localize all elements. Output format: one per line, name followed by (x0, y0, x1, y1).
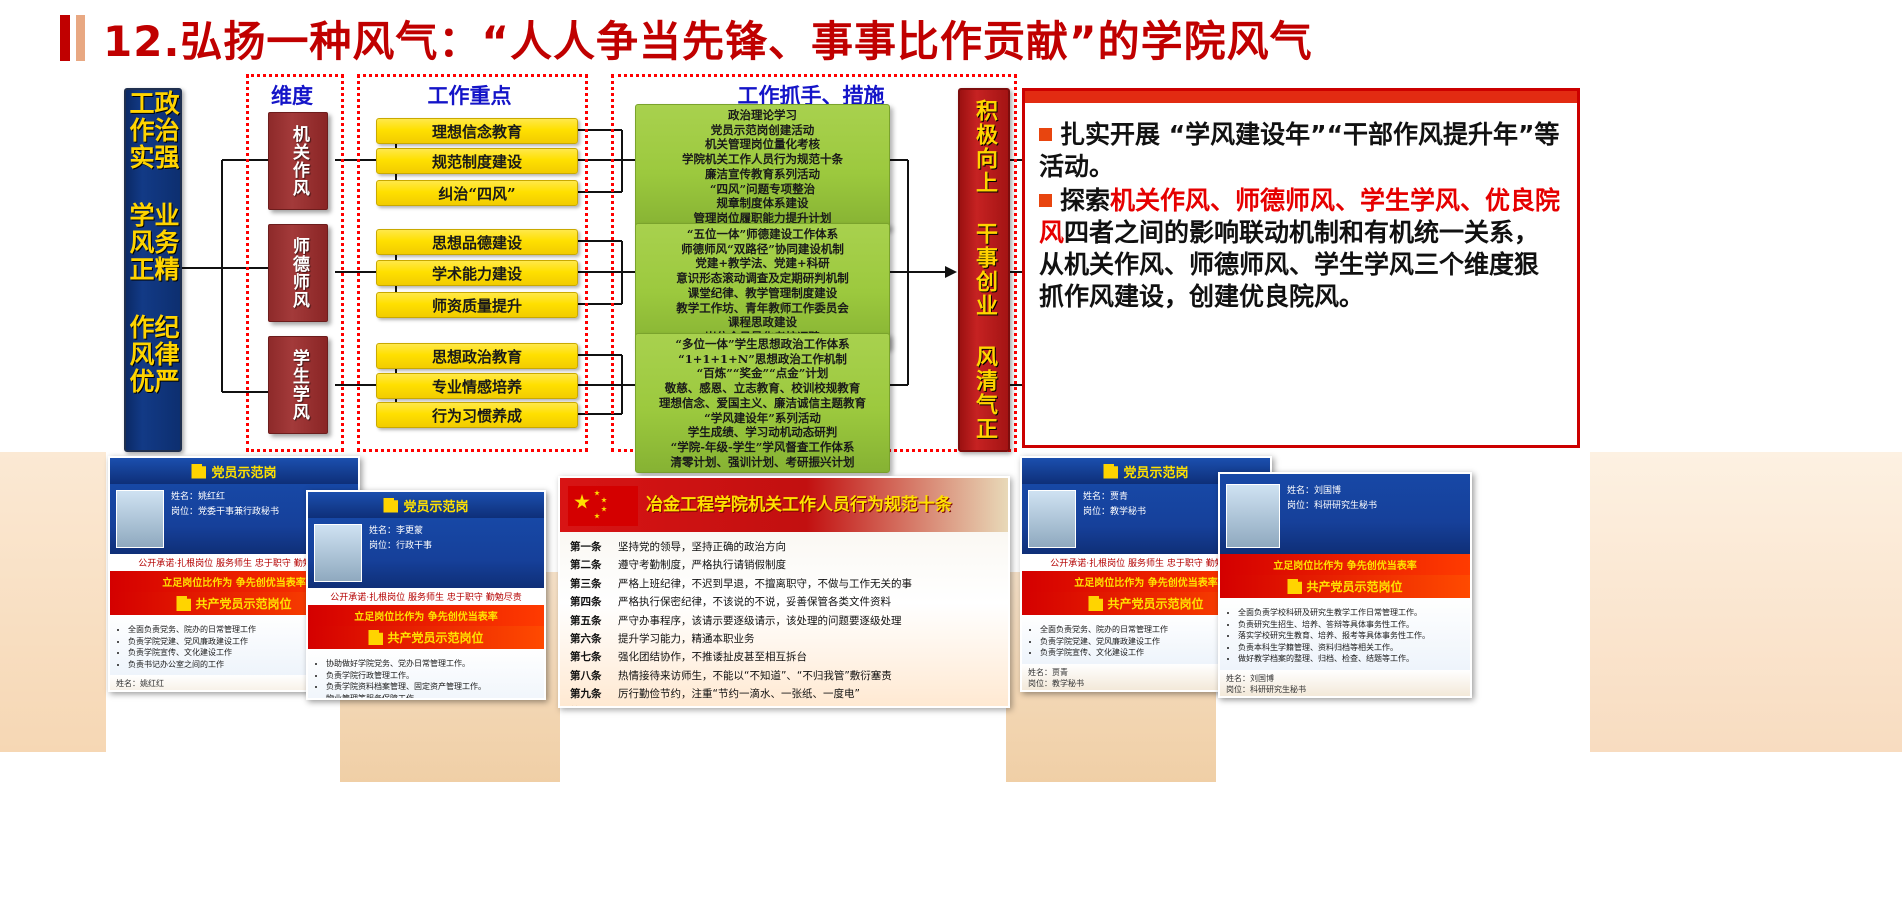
focus-box-3-1[interactable]: 思想政治教育 (376, 343, 578, 369)
measure-line: 机关管理岗位量化考核 (640, 137, 885, 152)
measure-line: 学院机关工作人员行为规范十条 (640, 152, 885, 167)
panel-top-accent (1025, 91, 1577, 103)
focus-box-2-3[interactable]: 师资质量提升 (376, 292, 578, 318)
row-no: 第一条 (570, 538, 618, 556)
avatar (1028, 490, 1076, 548)
measure-line: “学风建设年”系列活动 (640, 411, 885, 426)
card-lower-title: 共产党员示范岗位 (1107, 595, 1203, 612)
row-no: 第三条 (570, 575, 618, 593)
post-label: 岗位： (1083, 507, 1110, 517)
measure-line: “四风”问题专项整治 (640, 182, 885, 197)
banner-row: 第三条严格上班纪律，不迟到早退，不擅离职守，不做与工作无关的事 (570, 575, 998, 593)
row-no: 第八条 (570, 667, 618, 685)
dimension-box-2[interactable]: 师德师风 (268, 224, 328, 322)
post-label: 岗位： (369, 541, 396, 551)
right-pillar-text: 积极向上 干事创业 风清气正 (973, 99, 995, 441)
post-value: 党委干事兼行政秘书 (198, 507, 279, 517)
name-label: 姓名： (171, 492, 198, 502)
name-label: 姓名： (1226, 674, 1250, 683)
banner-row: 第七条强化团结协作，不推诿扯皮甚至相互拆台 (570, 648, 998, 666)
banner-row: 第一条坚持党的领导，坚持正确的政治方向 (570, 538, 998, 556)
measure-line: “1+1+1+N”思想政治工作机制 (640, 352, 885, 367)
row-no: 第十条 (570, 703, 618, 708)
focus-box-1-3[interactable]: 纠治“四风” (376, 180, 578, 206)
name-value: 贾青 (1110, 492, 1128, 502)
row-text: 遵守考勤制度，严格执行请销假制度 (618, 556, 786, 574)
row-no: 第二条 (570, 556, 618, 574)
dimension-label-3: 学生学风 (289, 349, 307, 421)
name-label: 姓名： (1028, 668, 1052, 677)
post-label: 岗位： (1287, 501, 1314, 511)
card-title: 党员示范岗 (1123, 462, 1188, 481)
focus-box-2-1[interactable]: 思想品德建设 (376, 229, 578, 255)
banner-row: 第五条严守办事程序，该请示要逐级请示，该处理的问题要逐级处理 (570, 612, 998, 630)
measure-line: 规章制度体系建设 (640, 196, 885, 211)
banner-row: 第四条严格执行保密纪律，不该说的不说，妥善保管各类文件资料 (570, 593, 998, 611)
name-label: 姓名： (369, 526, 396, 536)
measure-line: “五位一体”师德建设工作体系 (640, 227, 885, 242)
avatar (314, 524, 362, 582)
post-value: 教学秘书 (1052, 679, 1084, 688)
left-pillar-text: 政治强 业务精 纪律严 工作实 学风正 作风优 (128, 90, 178, 450)
name-value: 姚红红 (140, 679, 164, 688)
post-value: 党委干事兼行政秘书 (140, 690, 212, 692)
right-pillar-bar: 积极向上 干事创业 风清气正 (958, 88, 1010, 452)
name-label: 姓名： (116, 679, 140, 688)
duty-item: 负责研究生招生、培养、答辩等具体事务性工作。 (1238, 619, 1464, 631)
row-text: 热情接待来访师生，不能以“不知道”、“不归我管”敷衍塞责 (618, 667, 892, 685)
slogan-band: 立足岗位比作为 争先创优当表率 (1220, 554, 1470, 575)
duty-item: 全面负责学校科研及研究生教学工作日常管理工作。 (1238, 607, 1464, 619)
name-label: 姓名： (1287, 486, 1314, 496)
banner-row: 第二条遵守考勤制度，严格执行请销假制度 (570, 556, 998, 574)
avatar (1226, 484, 1280, 548)
photo-card-2[interactable]: 党员示范岗 姓名：李更蒙 岗位：行政干事 公开承诺·扎根岗位 服务师生 忠于职守… (306, 490, 546, 700)
post-label: 岗位： (1226, 685, 1250, 694)
title-accent-bar (60, 15, 70, 61)
photo-strip: 党员示范岗 姓名：姚红红 岗位：党委干事兼行政秘书 公开承诺·扎根岗位 服务师生… (0, 452, 1902, 903)
card-header: 党员示范岗 (110, 458, 358, 484)
focus-box-1-2[interactable]: 规范制度建设 (376, 148, 578, 174)
duty-item: 负责学院行政管理工作。 (326, 670, 538, 682)
row-text: 厉行勤俭节约，注重“节约一滴水、一张纸、一度电” (618, 685, 860, 703)
card-body: 姓名：李更蒙 岗位：行政干事 (308, 518, 544, 588)
card-title: 党员示范岗 (403, 496, 468, 515)
party-emblem-icon (1088, 596, 1103, 611)
name-value: 李更蒙 (396, 526, 423, 536)
pledge-line: 公开承诺·扎根岗位 服务师生 忠于职守 勤勉尽责 (308, 588, 544, 605)
measure-line: “百炼”“奖金”“点金”计划 (640, 366, 885, 381)
card-footer: 姓名：刘国博 岗位：科研研究生秘书 (1220, 670, 1470, 698)
card-lower-header: 共产党员示范岗位 (308, 626, 544, 649)
measure-line: 政治理论学习 (640, 108, 885, 123)
deco-left (0, 452, 106, 752)
post-label: 岗位： (1028, 679, 1052, 688)
row-no: 第五条 (570, 612, 618, 630)
avatar (116, 490, 164, 548)
title-accent-bar-2 (76, 15, 85, 61)
banner-list: 第一条坚持党的领导，坚持正确的政治方向 第二条遵守考勤制度，严格执行请销假制度 … (560, 532, 1008, 708)
card-lower-title: 共产党员示范岗位 (1306, 578, 1402, 595)
focus-box-3-3[interactable]: 行为习惯养成 (376, 402, 578, 428)
dimension-box-3[interactable]: 学生学风 (268, 336, 328, 434)
summary-highlight-1: 机关作风、师德师风、 (1110, 186, 1360, 215)
row-text: 坚持党的领导，坚持正确的政治方向 (618, 538, 786, 556)
post-value: 科研研究生秘书 (1314, 501, 1377, 511)
card-lower-title: 共产党员示范岗位 (195, 595, 291, 612)
duty-item: 负责本科生学籍管理、资料归档等相关工作。 (1238, 642, 1464, 654)
duty-item: 做好教学档案的整理、归档、检查、结题等工作。 (1238, 653, 1464, 665)
card-header: 党员示范岗 (308, 492, 544, 518)
banner-row: 第六条提升学习能力，精通本职业务 (570, 630, 998, 648)
focus-box-1-1[interactable]: 理想信念教育 (376, 118, 578, 144)
measure-line: 教学工作坊、青年教师工作委员会 (640, 301, 885, 316)
name-value: 贾青 (1052, 668, 1068, 677)
measure-line: 学生成绩、学习动机动态研判 (640, 425, 885, 440)
summary-text-1: 扎实开展 “学风建设年”“干部作风提升年”等活动。 (1039, 120, 1559, 181)
banner-title: 冶金工程学院机关工作人员行为规范十条 (646, 490, 952, 515)
row-no: 第四条 (570, 593, 618, 611)
measure-line: “多位一体”学生思想政治工作体系 (640, 337, 885, 352)
measure-line: 敬慈、感恩、立志教育、校训校规教育 (640, 381, 885, 396)
post-value: 行政干事 (396, 541, 432, 551)
party-emblem-icon (1103, 464, 1118, 479)
measure-line: 理想信念、爱国主义、廉洁诚信主题教育 (640, 396, 885, 411)
card-title: 党员示范岗 (211, 462, 276, 481)
row-text: 办公室保持清洁卫生，物品摆放有序 (618, 703, 786, 708)
name-value: 刘国博 (1314, 486, 1341, 496)
summary-panel: 扎实开展 “学风建设年”“干部作风提升年”等活动。 探索机关作风、师德师风、学生… (1022, 88, 1580, 448)
measures-box-1[interactable]: 政治理论学习 党员示范岗创建活动 机关管理岗位量化考核 学院机关工作人员行为规范… (635, 104, 890, 230)
dimension-label-2: 师德师风 (289, 237, 307, 309)
row-no: 第六条 (570, 630, 618, 648)
post-value: 科研研究生秘书 (1250, 685, 1306, 694)
summary-tail: 四者之间的影响联动机制和有机统一关系，从机关作风、师德师风、学生学风三个维度狠抓… (1039, 218, 1539, 311)
duty-item: 负责学院资料档案管理、固定资产管理工作。 (326, 681, 538, 693)
row-text: 严格执行保密纪律，不该说的不说，妥善保管各类文件资料 (618, 593, 891, 611)
card-duties: 协助做好学院党务、党办日常管理工作。 负责学院行政管理工作。 负责学院资料档案管… (308, 649, 544, 700)
summary-lead: 探索 (1060, 186, 1110, 215)
row-no: 第七条 (570, 648, 618, 666)
post-label: 岗位： (171, 507, 198, 517)
slogan-band: 立足岗位比作为 争先创优当表率 (308, 605, 544, 626)
dimension-label-1: 机关作风 (289, 125, 307, 197)
duty-item: 落实学校研究生教育、培养、报考等具体事务性工作。 (1238, 630, 1464, 642)
card-duties: 全面负责学校科研及研究生教学工作日常管理工作。 负责研究生招生、培养、答辩等具体… (1220, 598, 1470, 670)
party-emblem-icon (1287, 579, 1302, 594)
focus-box-3-2[interactable]: 专业情感培养 (376, 373, 578, 399)
column-head-dimension: 维度 (246, 80, 338, 110)
focus-box-2-2[interactable]: 学术能力建设 (376, 260, 578, 286)
measure-line: 师德师风“双路径”协同建设机制 (640, 242, 885, 257)
duty-item: 协助做好学院党务、党办日常管理工作。 (326, 658, 538, 670)
bullet-square-icon (1039, 194, 1052, 207)
party-emblem-icon (383, 498, 398, 513)
name-value: 刘国博 (1250, 674, 1274, 683)
row-no: 第九条 (570, 685, 618, 703)
measure-line: 课堂纪律、教学管理制度建设 (640, 286, 885, 301)
banner-row: 第十条办公室保持清洁卫生，物品摆放有序 (570, 703, 998, 708)
card-body: 姓名：刘国博 岗位：科研研究生秘书 (1220, 474, 1470, 554)
post-label: 岗位： (116, 690, 140, 692)
measure-line: 廉洁宣传教育系列活动 (640, 167, 885, 182)
party-emblem-icon (368, 630, 383, 645)
dimension-box-1[interactable]: 机关作风 (268, 112, 328, 210)
row-text: 提升学习能力，精通本职业务 (618, 630, 755, 648)
bullet-square-icon (1039, 128, 1052, 141)
card-fields: 姓名：刘国博 岗位：科研研究生秘书 (1287, 484, 1464, 515)
measure-line: 党建+教学法、党建+科研 (640, 256, 885, 271)
flag-icon (568, 486, 638, 526)
photo-card-4[interactable]: 姓名：刘国博 岗位：科研研究生秘书 立足岗位比作为 争先创优当表率 共产党员示范… (1218, 472, 1472, 698)
card-lower-header: 共产党员示范岗位 (1220, 575, 1470, 598)
duty-item: 物业管理等服务保障工作。 (326, 693, 538, 700)
name-label: 姓名： (1083, 492, 1110, 502)
summary-paragraph-2: 探索机关作风、师德师风、学生学风、优良院风四者之间的影响联动机制和有机统一关系，… (1039, 185, 1563, 313)
post-value: 教学秘书 (1110, 507, 1146, 517)
banner-row: 第八条热情接待来访师生，不能以“不知道”、“不归我管”敷衍塞责 (570, 667, 998, 685)
measures-box-2[interactable]: “五位一体”师德建设工作体系 师德师风“双路径”协同建设机制 党建+教学法、党建… (635, 223, 890, 349)
measure-line: 党员示范岗创建活动 (640, 123, 885, 138)
left-pillar-bar: 政治强 业务精 纪律严 工作实 学风正 作风优 (124, 88, 182, 452)
card-lower-title: 共产党员示范岗位 (387, 629, 483, 646)
party-emblem-icon (191, 464, 206, 479)
measure-line: 课程思政建设 (640, 315, 885, 330)
banner-header: 冶金工程学院机关工作人员行为规范十条 (560, 478, 1008, 532)
name-value: 姚红红 (198, 492, 225, 502)
banner-row: 第九条厉行勤俭节约，注重“节约一滴水、一张纸、一度电” (570, 685, 998, 703)
measure-line: 意识形态滚动调查及定期研判机制 (640, 271, 885, 286)
row-text: 严格上班纪律，不迟到早退，不擅离职守，不做与工作无关的事 (618, 575, 912, 593)
party-emblem-icon (176, 596, 191, 611)
column-head-focus: 工作重点 (357, 80, 582, 110)
summary-paragraph-1: 扎实开展 “学风建设年”“干部作风提升年”等活动。 (1039, 119, 1563, 183)
row-text: 严守办事程序，该请示要逐级请示，该处理的问题要逐级处理 (618, 612, 902, 630)
regulations-banner[interactable]: 冶金工程学院机关工作人员行为规范十条 第一条坚持党的领导，坚持正确的政治方向 第… (558, 476, 1010, 708)
card-fields: 姓名：李更蒙 岗位：行政干事 (369, 524, 538, 555)
deco-right (1590, 452, 1902, 752)
slide-title: 12.弘扬一种风气：“人人争当先锋、事事比作贡献”的学院风气 (60, 8, 1460, 68)
page-title: 12.弘扬一种风气：“人人争当先锋、事事比作贡献”的学院风气 (103, 8, 1313, 69)
row-text: 强化团结协作，不推诿扯皮甚至相互拆台 (618, 648, 807, 666)
